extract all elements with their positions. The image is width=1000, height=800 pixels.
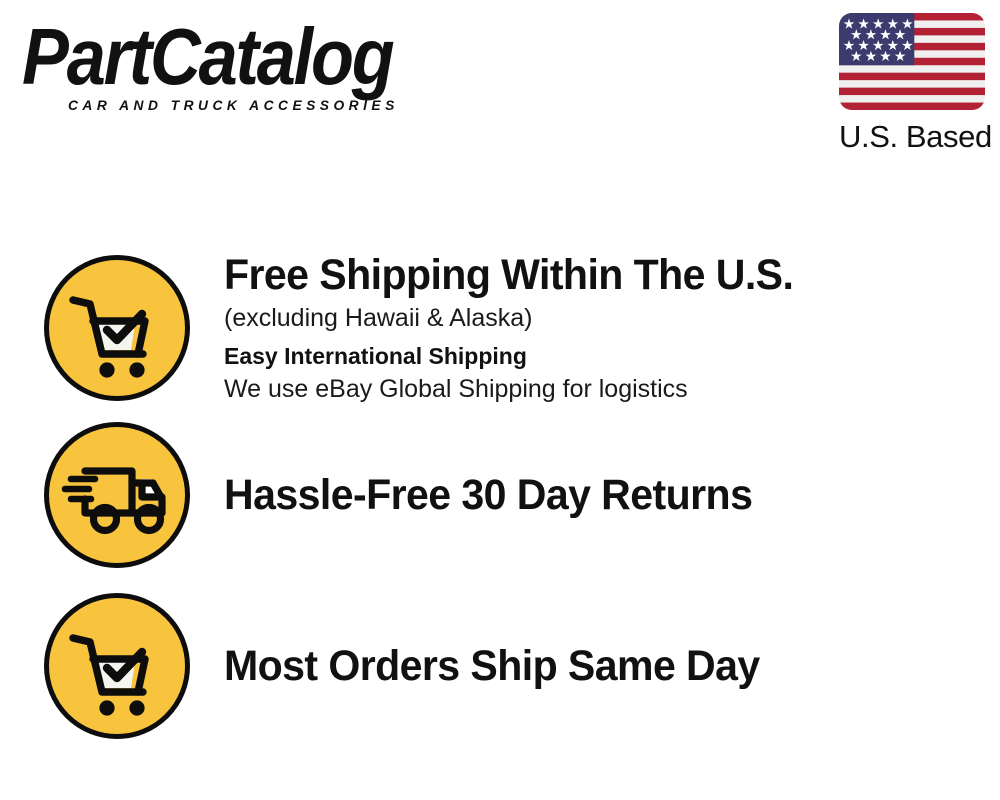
feature-note: (excluding Hawaii & Alaska)	[224, 302, 974, 335]
feature-list: Free Shipping Within The U.S. (excluding…	[0, 180, 1000, 800]
brand-tagline: CAR AND TRUCK ACCESSORIES	[68, 98, 500, 113]
feature-sub-title: Easy International Shipping	[224, 341, 974, 372]
feature-sub-note: We use eBay Global Shipping for logistic…	[224, 373, 974, 406]
shopping-cart-check-icon	[44, 593, 190, 739]
feature-text-block: Hassle-Free 30 Day Returns	[190, 470, 974, 520]
feature-text-block: Most Orders Ship Same Day	[190, 641, 974, 691]
brand-wordmark: PartCatalog	[22, 18, 487, 99]
shopping-cart-check-icon	[44, 255, 190, 401]
feature-row: Most Orders Ship Same Day	[44, 593, 974, 739]
fast-delivery-truck-icon	[44, 422, 190, 568]
feature-title: Free Shipping Within The U.S.	[224, 250, 940, 300]
us-based-seller-label: U.S. Based Seller	[839, 119, 985, 155]
feature-title: Most Orders Ship Same Day	[224, 641, 940, 691]
us-flag-icon	[839, 13, 985, 110]
feature-text-block: Free Shipping Within The U.S. (excluding…	[190, 250, 974, 406]
feature-title: Hassle-Free 30 Day Returns	[224, 470, 940, 520]
banner-header: PartCatalog CAR AND TRUCK ACCESSORIES	[0, 0, 1000, 180]
feature-row: Free Shipping Within The U.S. (excluding…	[44, 250, 974, 406]
feature-row: Hassle-Free 30 Day Returns	[44, 422, 974, 568]
promo-banner: PartCatalog CAR AND TRUCK ACCESSORIES	[0, 0, 1000, 800]
us-based-seller-badge: U.S. Based Seller	[839, 13, 985, 155]
partcatalog-logo: PartCatalog CAR AND TRUCK ACCESSORIES	[22, 18, 492, 113]
